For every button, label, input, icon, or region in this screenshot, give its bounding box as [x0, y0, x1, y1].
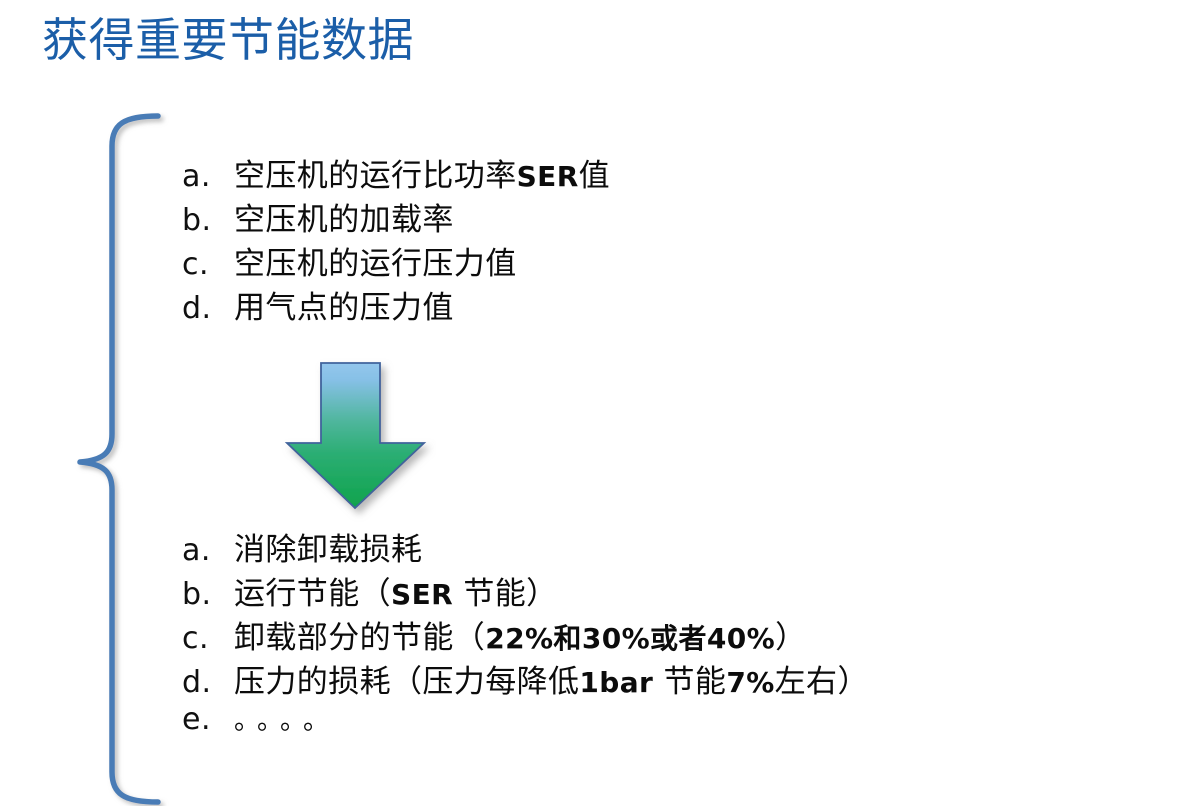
- list-marker: a.: [182, 159, 234, 194]
- list-item-text-cjk-tail: 节能）: [453, 576, 557, 612]
- list-item-text-cjk: 压力的损耗（压力每降低: [234, 664, 579, 700]
- list-item-text-cjk-tail: 左右）: [775, 664, 869, 700]
- list-item: c. 空压机的运行压力值: [182, 238, 610, 282]
- list-item-text: 消除卸载损耗: [234, 524, 422, 569]
- list-item-text-cjk-tail: ）: [775, 620, 806, 656]
- slide-canvas: 获得重要节能数据 a. 空压机的运行比功率SER值 b. 空压机的加载率 c. …: [0, 0, 1200, 806]
- list-marker: a.: [182, 533, 234, 568]
- list-item-text: 用气点的压力值: [234, 282, 454, 327]
- list-item: b. 运行节能（SER 节能）: [182, 568, 869, 612]
- list-item: a. 消除卸载损耗: [182, 524, 869, 568]
- arrow-shape: [287, 363, 424, 508]
- brace-path: [80, 116, 158, 802]
- list-item-text-cjk-mid: 节能: [653, 664, 726, 700]
- list-item-text: 运行节能（SER 节能）: [234, 568, 558, 613]
- list-item: b. 空压机的加载率: [182, 194, 610, 238]
- list-marker: b.: [182, 203, 234, 238]
- page-title: 获得重要节能数据: [42, 12, 1042, 68]
- list-item-text-cjk: 空压机的运行压力值: [234, 246, 517, 282]
- list-item: e. 。。。。: [182, 700, 869, 744]
- list-item-text-latin: 22%和30%或者40%: [485, 622, 775, 655]
- list-item-text-cjk: 卸载部分的节能（: [234, 620, 485, 656]
- list-item: a. 空压机的运行比功率SER值: [182, 150, 610, 194]
- outputs-list: a. 消除卸载损耗 b. 运行节能（SER 节能） c. 卸载部分的节能（22%…: [182, 524, 869, 744]
- list-item-text: 卸载部分的节能（22%和30%或者40%）: [234, 612, 806, 657]
- list-marker: d.: [182, 665, 234, 700]
- left-curly-brace: [62, 112, 182, 806]
- list-marker: c.: [182, 621, 234, 656]
- inputs-list: a. 空压机的运行比功率SER值 b. 空压机的加载率 c. 空压机的运行压力值…: [182, 150, 610, 326]
- list-item-text: 压力的损耗（压力每降低1bar 节能7%左右）: [234, 656, 869, 701]
- list-marker: e.: [182, 702, 234, 737]
- list-item: c. 卸载部分的节能（22%和30%或者40%）: [182, 612, 869, 656]
- list-item-text-latin: SER: [517, 160, 579, 193]
- list-marker: c.: [182, 247, 234, 282]
- list-item-text-latin: SER: [391, 578, 453, 611]
- list-item-text-latin: 1bar: [579, 666, 653, 699]
- list-item-text-cjk: 用气点的压力值: [234, 290, 454, 326]
- list-marker: d.: [182, 291, 234, 326]
- list-item-text: 空压机的运行比功率SER值: [234, 150, 610, 195]
- list-item-text-cjk: 空压机的运行比功率: [234, 158, 517, 194]
- list-item-text-cjk: 空压机的加载率: [234, 202, 454, 238]
- list-item-text-cjk: 。。。。: [234, 706, 339, 736]
- down-arrow-icon: [276, 352, 436, 522]
- list-item-text-latin-2: 7%: [726, 666, 774, 699]
- list-item-text: 空压机的加载率: [234, 194, 454, 239]
- list-item: d. 用气点的压力值: [182, 282, 610, 326]
- list-item: d. 压力的损耗（压力每降低1bar 节能7%左右）: [182, 656, 869, 700]
- list-item-text-cjk: 消除卸载损耗: [234, 532, 422, 568]
- list-item-text-cjk: 运行节能（: [234, 576, 391, 612]
- list-marker: b.: [182, 577, 234, 612]
- list-item-text: 。。。。: [234, 700, 339, 737]
- list-item-text: 空压机的运行压力值: [234, 238, 517, 283]
- list-item-text-cjk-tail: 值: [579, 158, 610, 194]
